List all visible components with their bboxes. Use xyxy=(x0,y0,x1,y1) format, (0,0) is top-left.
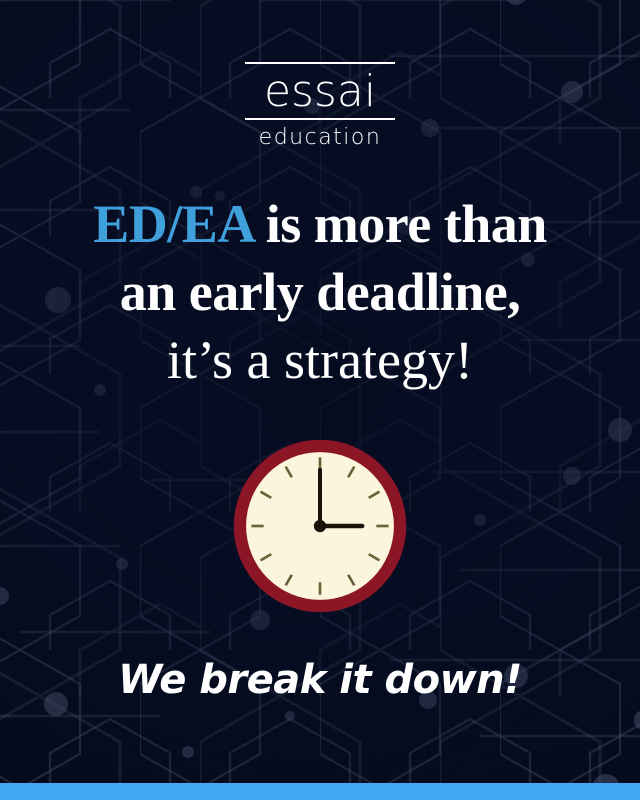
logo-wordmark: essai xyxy=(245,67,395,117)
logo-rule-bottom xyxy=(245,118,395,120)
headline-accent: ED/EA xyxy=(93,194,253,254)
clock-center-pin xyxy=(314,520,326,532)
accent-bar xyxy=(0,783,640,800)
headline: ED/EA is more than an early deadline, it… xyxy=(20,190,620,394)
headline-line-1-rest: is more than xyxy=(253,194,547,254)
brand-logo: essai education xyxy=(245,62,395,152)
social-media-poster: essai education ED/EA is more than an ea… xyxy=(0,0,640,800)
tagline: We break it down! xyxy=(118,656,522,704)
analog-clock-icon xyxy=(232,438,408,614)
headline-line-1: ED/EA is more than xyxy=(20,190,620,258)
headline-line-3: it’s a strategy! xyxy=(20,326,620,394)
logo-subtitle: education xyxy=(245,124,395,152)
logo-rule-top xyxy=(245,62,395,64)
headline-line-2: an early deadline, xyxy=(20,258,620,326)
